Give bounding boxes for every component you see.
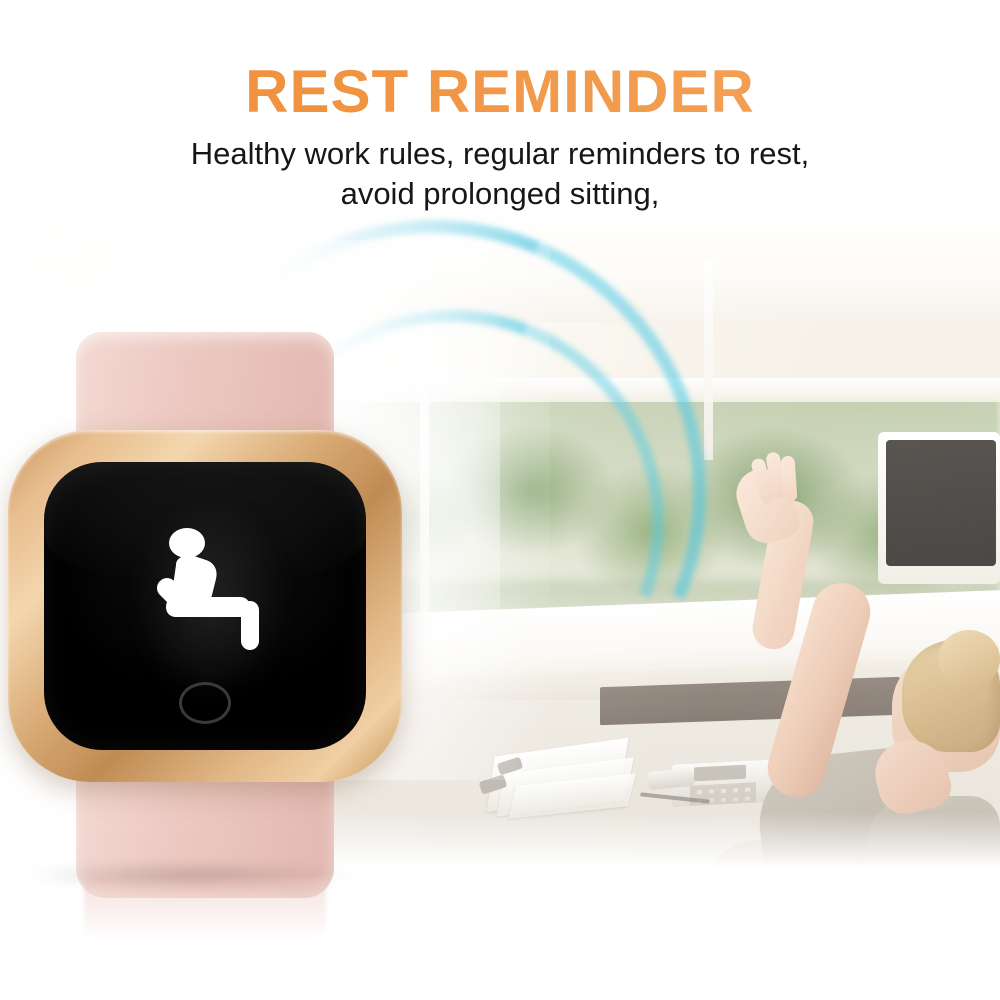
window-mullion-left [420,310,429,630]
home-button[interactable] [179,682,231,724]
subtitle-line-2: avoid prolonged sitting, [0,174,1000,214]
monitor-screen [886,440,996,566]
headline-block: REST REMINDER Healthy work rules, regula… [0,62,1000,213]
woman-hair-bun [938,630,1000,688]
sitting-person-icon [146,525,264,653]
watch-drop-shadow [24,862,354,888]
window-mullion-right [704,260,713,460]
smartwatch[interactable] [0,322,420,892]
office-window [0,200,1000,322]
watch-screen[interactable] [44,462,366,750]
desk-phone-display [694,765,746,782]
watch-case [8,430,402,782]
page-title: REST REMINDER [0,62,1000,122]
product-marketing-banner: REST REMINDER Healthy work rules, regula… [0,0,1000,1000]
page-subtitle: Healthy work rules, regular reminders to… [0,134,1000,213]
subtitle-line-1: Healthy work rules, regular reminders to… [0,134,1000,174]
watch-reflection [84,878,326,950]
